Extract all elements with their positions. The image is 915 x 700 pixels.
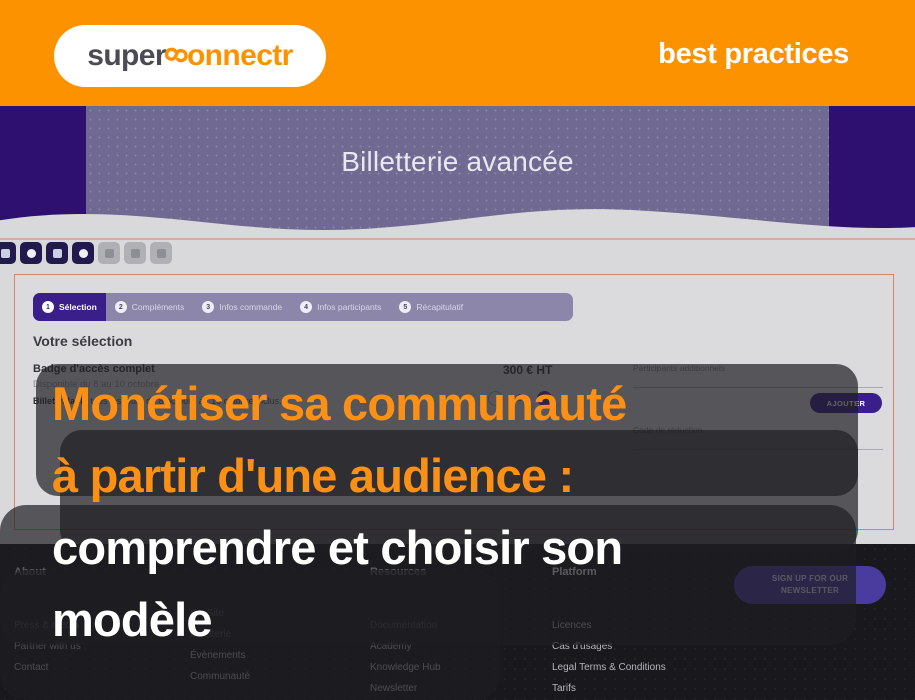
hero-title: Billetterie avancée	[86, 146, 829, 178]
step-number: 2	[115, 301, 127, 313]
video-icon[interactable]	[124, 242, 146, 264]
page-divider	[0, 238, 915, 240]
logo[interactable]: super onnectr	[54, 25, 326, 87]
step-number: 4	[300, 301, 312, 313]
step-complements[interactable]: 2 Compléments	[106, 293, 193, 321]
slide-canvas: Billetterie avancée 1 Sélection	[0, 0, 915, 700]
step-number: 5	[399, 301, 411, 313]
title-line-1: Monétiser sa communauté	[52, 368, 892, 440]
double-c-loop-icon	[165, 47, 188, 67]
step-recapitulatif[interactable]: 5 Récapitulatif	[390, 293, 472, 321]
header-tagline: best practices	[658, 38, 849, 71]
checkout-stepper[interactable]: 1 Sélection 2 Compléments 3 Infos comman…	[33, 293, 573, 321]
editor-toolbar[interactable]	[0, 242, 172, 264]
step-label: Infos participants	[317, 302, 381, 312]
title-line-4: modèle	[52, 584, 892, 656]
page-title: Monétiser sa communauté à partir d'une a…	[52, 368, 892, 656]
logo-text: super onnectr	[87, 41, 293, 71]
grid-icon[interactable]	[0, 242, 16, 264]
image-icon[interactable]	[98, 242, 120, 264]
hero-banner: Billetterie avancée	[0, 106, 915, 238]
settings-icon[interactable]	[150, 242, 172, 264]
step-infos-participants[interactable]: 4 Infos participants	[291, 293, 390, 321]
sparkle-icon[interactable]	[20, 242, 42, 264]
title-line-3: comprendre et choisir son	[52, 512, 892, 584]
footer-link[interactable]: Legal Terms & Conditions	[552, 662, 666, 673]
footer-link[interactable]: Tarifs	[552, 683, 666, 694]
step-label: Sélection	[59, 302, 97, 312]
step-label: Compléments	[132, 302, 184, 312]
step-label: Infos commande	[219, 302, 282, 312]
selection-heading: Votre sélection	[33, 333, 132, 349]
step-selection[interactable]: 1 Sélection	[33, 293, 106, 321]
header-bar: super onnectr best practices	[0, 0, 915, 106]
step-number: 3	[202, 301, 214, 313]
step-infos-commande[interactable]: 3 Infos commande	[193, 293, 291, 321]
logo-text-super: super	[87, 39, 166, 72]
logo-text-connectr: onnectr	[187, 39, 293, 72]
title-line-2: à partir d'une audience :	[52, 440, 892, 512]
calendar-icon[interactable]	[46, 242, 68, 264]
chat-bubble-icon[interactable]	[72, 242, 94, 264]
step-label: Récapitulatif	[416, 302, 463, 312]
step-number: 1	[42, 301, 54, 313]
